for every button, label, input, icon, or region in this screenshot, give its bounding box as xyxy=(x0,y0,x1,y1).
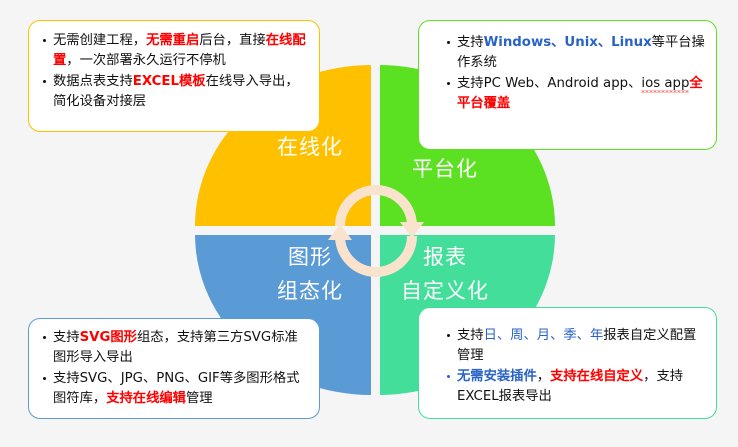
bullet-text-segment: 支持 xyxy=(457,328,484,343)
bullet-text-segment: 管理 xyxy=(186,391,213,406)
diagram-canvas: 在线化 跨 平台化 图形 组态化 报表 自定义化 无需创建工程，无需重启后台，直… xyxy=(0,0,738,447)
callout-report-list: 支持日、周、月、季、年报表自定义配置管理 无需安装插件，支持在线自定义，支持EX… xyxy=(419,308,716,407)
list-item: 无需安装插件，支持在线自定义，支持EXCEL报表导出 xyxy=(445,367,706,407)
callout-online: 无需创建工程，无需重启后台，直接在线配置，一次部署永久运行不停机 数据点表支持E… xyxy=(28,20,320,132)
bullet-text-segment: ， xyxy=(537,369,550,384)
bullet-text-highlight: 支持在线编辑 xyxy=(106,391,186,406)
bullet-text-highlight: 无需重启 xyxy=(146,33,199,48)
list-item: 无需创建工程，无需重启后台，直接在线配置，一次部署永久运行不停机 xyxy=(41,31,309,71)
callout-online-list: 无需创建工程，无需重启后台，直接在线配置，一次部署永久运行不停机 数据点表支持E… xyxy=(29,21,319,112)
bullet-text-highlight: 无需安装插件 xyxy=(457,369,537,384)
list-item: 支持Windows、Unix、Linux等平台操作系统 xyxy=(445,33,706,73)
bullet-text-highlight: EXCEL模板 xyxy=(133,74,206,89)
bullet-text-segment: 数据点表支持 xyxy=(53,74,133,89)
quadrant-label-crossplatform-line2: 平台化 xyxy=(390,152,500,186)
bullet-text-segment: 支持 xyxy=(53,330,80,345)
callout-report: 支持日、周、月、季、年报表自定义配置管理 无需安装插件，支持在线自定义，支持EX… xyxy=(418,307,717,419)
bullet-text-segment: 后台，直接 xyxy=(199,33,265,48)
callout-crossplatform-list: 支持Windows、Unix、Linux等平台操作系统 支持PC Web、And… xyxy=(419,21,716,114)
bullet-text-highlight: SVG图形 xyxy=(80,330,137,345)
refresh-cycle-arrows-icon xyxy=(327,182,425,280)
list-item: 数据点表支持EXCEL模板在线导入导出，简化设备对接层 xyxy=(41,72,309,112)
bullet-text-segment: 支持 xyxy=(457,35,484,50)
bullet-text-highlight: 支持在线自定义 xyxy=(550,369,643,384)
list-item: 支持日、周、月、季、年报表自定义配置管理 xyxy=(445,326,706,366)
list-item: 支持SVG、JPG、PNG、GIF等多图形格式图符库，支持在线编辑管理 xyxy=(41,369,309,409)
list-item: 支持SVG图形组态，支持第三方SVG标准图形导入导出 xyxy=(41,328,309,368)
bullet-text-segment: 支持PC Web、Android app、 xyxy=(457,76,641,91)
list-item: 支持PC Web、Android app、ios app全平台覆盖 xyxy=(445,74,706,114)
bullet-text-segment: ，一次部署永久运行不停机 xyxy=(66,53,226,68)
bullet-text-segment: 无需创建工程， xyxy=(53,33,146,48)
bullet-text-spellcheck: ios app xyxy=(641,76,689,93)
callout-graphics-list: 支持SVG图形组态，支持第三方SVG标准图形导入导出 支持SVG、JPG、PNG… xyxy=(29,319,319,409)
callout-crossplatform: 支持Windows、Unix、Linux等平台操作系统 支持PC Web、And… xyxy=(418,20,717,150)
bullet-text-highlight: Windows、Unix、Linux xyxy=(484,35,652,50)
callout-graphics: 支持SVG图形组态，支持第三方SVG标准图形导入导出 支持SVG、JPG、PNG… xyxy=(28,318,320,419)
quadrant-label-online-line1: 在线化 xyxy=(255,130,365,164)
quadrant-label-online: 在线化 xyxy=(255,130,365,164)
bullet-text-highlight: 日、周、月、季、年 xyxy=(484,328,604,343)
